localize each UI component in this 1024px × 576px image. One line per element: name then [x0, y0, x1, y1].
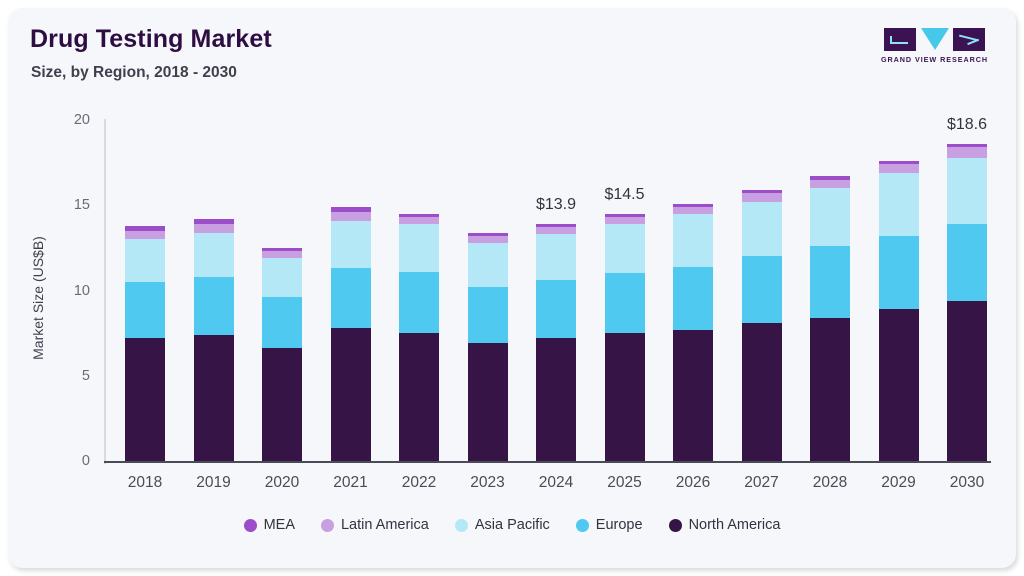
bar-2022[interactable]	[399, 120, 439, 461]
x-axis-tick-2022: 2022	[385, 474, 453, 492]
bar-segment-europe[interactable]	[194, 277, 234, 335]
bar-segment-asia-pacific[interactable]	[605, 224, 645, 273]
bar-segment-europe[interactable]	[947, 224, 987, 301]
bar-segment-mea[interactable]	[262, 248, 302, 251]
stacked-bar-chart: Market Size (US$B) 05101520 201820192020…	[8, 8, 1016, 568]
bar-segment-latin-america[interactable]	[536, 227, 576, 234]
bar-segment-north-america[interactable]	[468, 343, 508, 461]
bar-segment-mea[interactable]	[947, 144, 987, 147]
bar-segment-north-america[interactable]	[125, 338, 165, 461]
bar-segment-mea[interactable]	[673, 204, 713, 207]
bar-segment-asia-pacific[interactable]	[331, 221, 371, 269]
bar-segment-asia-pacific[interactable]	[399, 224, 439, 272]
bar-segment-latin-america[interactable]	[810, 180, 850, 189]
y-axis-tick-0: 0	[48, 453, 90, 469]
bar-2027[interactable]	[742, 120, 782, 461]
bar-segment-asia-pacific[interactable]	[947, 158, 987, 224]
y-axis-tick-20: 20	[48, 112, 90, 128]
bar-segment-europe[interactable]	[879, 236, 919, 309]
legend-item-mea[interactable]: MEA	[244, 517, 295, 533]
x-axis-tick-2021: 2021	[317, 474, 385, 492]
x-axis-tick-2019: 2019	[180, 474, 248, 492]
bar-segment-asia-pacific[interactable]	[810, 188, 850, 246]
x-axis-tick-2020: 2020	[248, 474, 316, 492]
bar-segment-north-america[interactable]	[262, 348, 302, 461]
bar-segment-europe[interactable]	[810, 246, 850, 318]
bar-segment-latin-america[interactable]	[331, 212, 371, 221]
bar-segment-mea[interactable]	[605, 214, 645, 217]
x-axis-tick-2018: 2018	[111, 474, 179, 492]
bar-segment-latin-america[interactable]	[399, 217, 439, 224]
bar-segment-asia-pacific[interactable]	[673, 214, 713, 267]
bar-segment-asia-pacific[interactable]	[536, 234, 576, 280]
bar-segment-north-america[interactable]	[742, 323, 782, 461]
bar-segment-latin-america[interactable]	[879, 164, 919, 173]
x-axis-tick-2030: 2030	[933, 474, 1001, 492]
bar-segment-mea[interactable]	[879, 161, 919, 164]
chart-card: Drug Testing Market Size, by Region, 201…	[8, 8, 1016, 568]
x-axis-tick-2023: 2023	[454, 474, 522, 492]
bar-segment-asia-pacific[interactable]	[879, 173, 919, 236]
bar-segment-north-america[interactable]	[536, 338, 576, 461]
legend-swatch-icon	[455, 519, 468, 532]
legend-swatch-icon	[576, 519, 589, 532]
bar-segment-north-america[interactable]	[673, 330, 713, 461]
bar-segment-latin-america[interactable]	[605, 217, 645, 224]
bar-2025[interactable]	[605, 120, 645, 461]
bar-2018[interactable]	[125, 120, 165, 461]
x-axis-line	[104, 461, 991, 463]
bar-segment-europe[interactable]	[605, 273, 645, 333]
bar-2023[interactable]	[468, 120, 508, 461]
bar-segment-europe[interactable]	[673, 267, 713, 330]
legend-swatch-icon	[244, 519, 257, 532]
bar-segment-mea[interactable]	[742, 190, 782, 193]
bar-2024[interactable]	[536, 120, 576, 461]
legend-label: North America	[689, 517, 781, 533]
bar-segment-north-america[interactable]	[331, 328, 371, 461]
legend-item-europe[interactable]: Europe	[576, 517, 643, 533]
bar-value-label-2030: $18.6	[912, 116, 1016, 134]
bar-segment-europe[interactable]	[468, 287, 508, 343]
bar-segment-asia-pacific[interactable]	[262, 258, 302, 297]
bar-segment-latin-america[interactable]	[673, 207, 713, 214]
bar-segment-north-america[interactable]	[810, 318, 850, 461]
x-axis-tick-2029: 2029	[865, 474, 933, 492]
bar-segment-europe[interactable]	[399, 272, 439, 333]
bar-segment-europe[interactable]	[536, 280, 576, 338]
x-axis-tick-2027: 2027	[728, 474, 796, 492]
bar-segment-north-america[interactable]	[947, 301, 987, 461]
legend-label: Europe	[596, 517, 643, 533]
chart-legend: MEALatin AmericaAsia PacificEuropeNorth …	[8, 517, 1016, 533]
y-axis-tick-5: 5	[48, 368, 90, 384]
bar-segment-north-america[interactable]	[605, 333, 645, 461]
x-axis-tick-2024: 2024	[522, 474, 590, 492]
bar-segment-asia-pacific[interactable]	[125, 239, 165, 282]
y-axis-line	[104, 119, 106, 464]
y-axis-label: Market Size (US$B)	[30, 183, 46, 413]
bar-segment-asia-pacific[interactable]	[742, 202, 782, 257]
bar-2028[interactable]	[810, 120, 850, 461]
x-axis-tick-2025: 2025	[591, 474, 659, 492]
bar-segment-mea[interactable]	[125, 226, 165, 231]
bar-segment-mea[interactable]	[194, 219, 234, 224]
legend-item-asia-pacific[interactable]: Asia Pacific	[455, 517, 550, 533]
bar-value-label-2025: $14.5	[570, 186, 680, 204]
x-axis-tick-2028: 2028	[796, 474, 864, 492]
bar-segment-north-america[interactable]	[194, 335, 234, 461]
bar-2019[interactable]	[194, 120, 234, 461]
legend-swatch-icon	[321, 519, 334, 532]
bar-segment-mea[interactable]	[468, 233, 508, 236]
y-axis-tick-15: 15	[48, 197, 90, 213]
legend-item-north-america[interactable]: North America	[669, 517, 781, 533]
bar-segment-europe[interactable]	[742, 256, 782, 322]
x-axis-tick-2026: 2026	[659, 474, 727, 492]
bar-segment-europe[interactable]	[125, 282, 165, 338]
bar-segment-latin-america[interactable]	[125, 231, 165, 240]
legend-label: Latin America	[341, 517, 429, 533]
legend-swatch-icon	[669, 519, 682, 532]
bar-segment-north-america[interactable]	[879, 309, 919, 461]
bar-segment-latin-america[interactable]	[262, 251, 302, 258]
bar-segment-mea[interactable]	[810, 176, 850, 179]
bar-segment-europe[interactable]	[262, 297, 302, 348]
bar-segment-mea[interactable]	[399, 214, 439, 217]
bar-segment-latin-america[interactable]	[947, 147, 987, 157]
bar-segment-latin-america[interactable]	[194, 224, 234, 233]
legend-item-latin-america[interactable]: Latin America	[321, 517, 429, 533]
bar-segment-mea[interactable]	[536, 224, 576, 227]
legend-label: Asia Pacific	[475, 517, 550, 533]
bar-segment-asia-pacific[interactable]	[194, 233, 234, 277]
bar-segment-north-america[interactable]	[399, 333, 439, 461]
bar-segment-asia-pacific[interactable]	[468, 243, 508, 287]
bar-2030[interactable]	[947, 120, 987, 461]
legend-label: MEA	[264, 517, 295, 533]
bar-segment-latin-america[interactable]	[742, 193, 782, 202]
bar-2021[interactable]	[331, 120, 371, 461]
bar-segment-latin-america[interactable]	[468, 236, 508, 243]
bar-2026[interactable]	[673, 120, 713, 461]
y-axis-tick-10: 10	[48, 283, 90, 299]
bar-segment-mea[interactable]	[331, 207, 371, 212]
bar-segment-europe[interactable]	[331, 268, 371, 328]
bar-2020[interactable]	[262, 120, 302, 461]
bar-2029[interactable]	[879, 120, 919, 461]
